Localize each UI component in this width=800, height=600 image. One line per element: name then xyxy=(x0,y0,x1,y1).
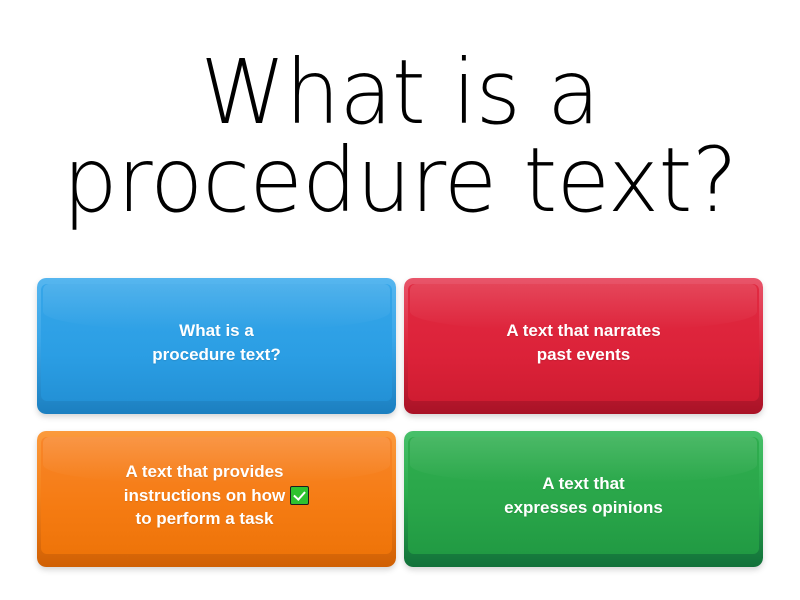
question-text: What is a procedure text? xyxy=(26,48,775,224)
white-check-mark-icon xyxy=(290,486,309,505)
quiz-screen: What is a procedure text? What is a proc… xyxy=(0,0,800,600)
answer-option-3-label: A text that provides instructions on how… xyxy=(37,435,396,556)
answer-option-1-label: What is a procedure text? xyxy=(37,282,396,403)
answer-option-1[interactable]: What is a procedure text? xyxy=(37,278,396,414)
answer-options-grid: What is a procedure text? A text that na… xyxy=(37,278,763,567)
answer-option-2-label: A text that narrates past events xyxy=(404,282,763,403)
answer-option-3[interactable]: A text that provides instructions on how… xyxy=(37,431,396,567)
answer-option-4-label: A text that expresses opinions xyxy=(404,435,763,556)
question-area: What is a procedure text? xyxy=(0,10,800,262)
answer-option-2[interactable]: A text that narrates past events xyxy=(404,278,763,414)
answer-option-3-text: A text that provides instructions on how… xyxy=(124,460,286,530)
answer-option-4[interactable]: A text that expresses opinions xyxy=(404,431,763,567)
